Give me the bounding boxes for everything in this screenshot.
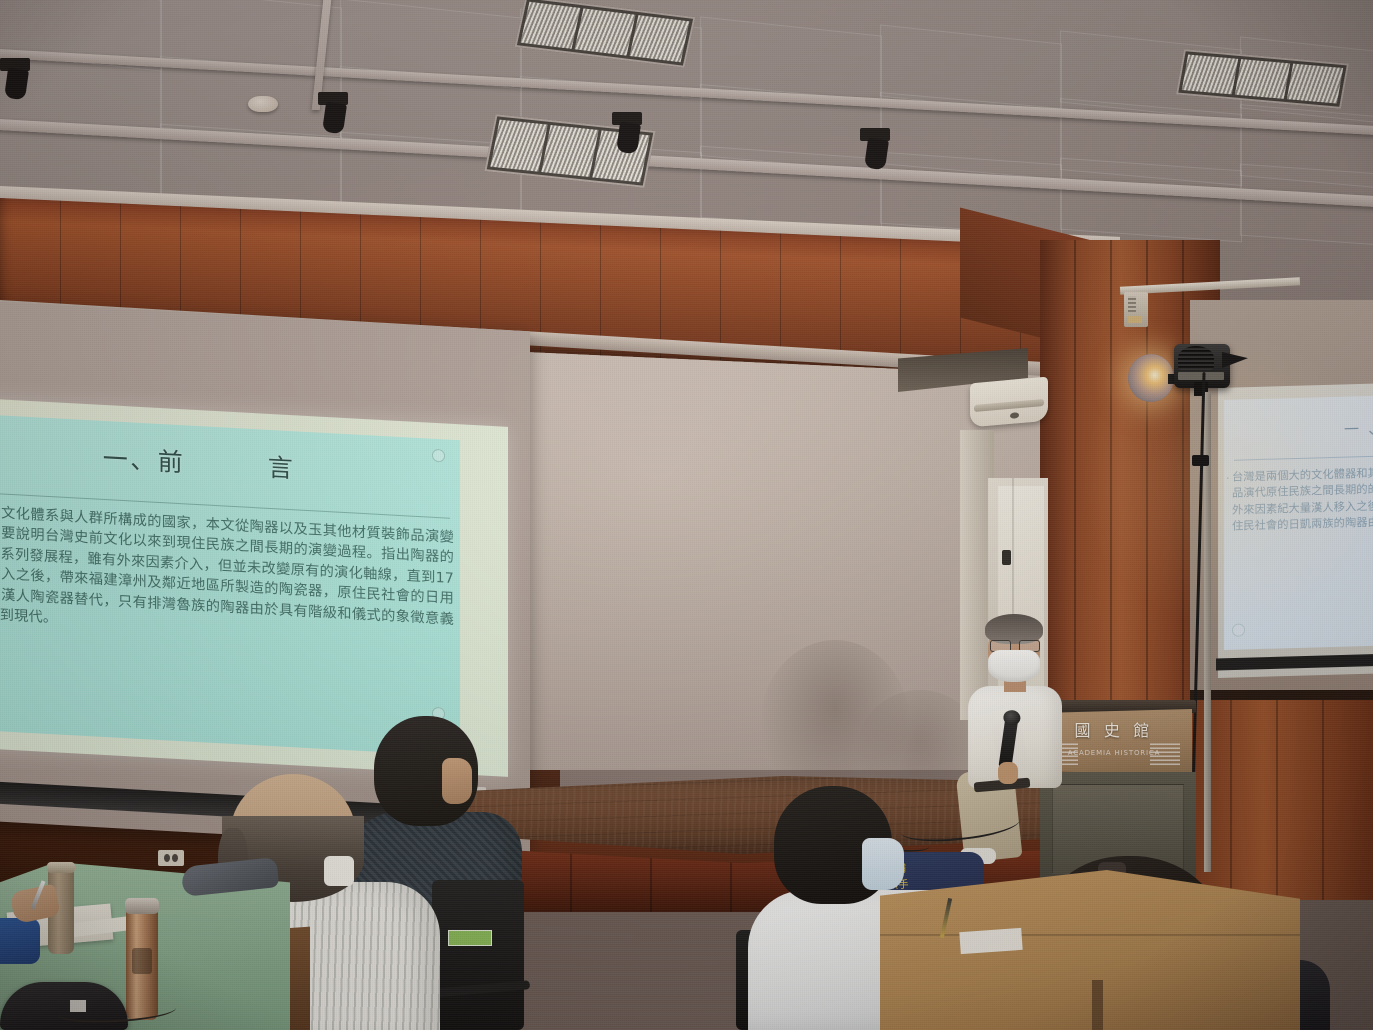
wall-control-box[interactable] <box>1124 292 1148 327</box>
note-paper <box>959 928 1022 954</box>
slide-body: 是兩個大的文化體系與人群所構成的國家，本文從陶器以及玉其他材質裝飾品演變的觀點，… <box>0 499 454 737</box>
power-outlet-icon[interactable] <box>158 850 184 866</box>
table-right <box>880 870 1300 1030</box>
air-conditioner <box>960 352 1060 432</box>
smoke-detector-icon <box>248 96 278 112</box>
blue-bag <box>0 918 40 964</box>
eyeglasses-icon <box>990 640 1040 650</box>
chair-asset-tag <box>448 930 492 946</box>
table-leg <box>1092 980 1103 1030</box>
slide-title: 一、前 言 <box>0 430 460 494</box>
face-mask-icon <box>988 650 1040 682</box>
lecture-hall-photo: 一、前 言 是兩個大的文化體系與人群所構成的國家，本文從陶器以及玉其他材質裝飾品… <box>0 0 1373 1030</box>
cable-clip <box>1192 455 1209 466</box>
door-handle-icon[interactable] <box>1002 550 1011 565</box>
projector-lamp-icon <box>1122 330 1252 420</box>
face-mask-icon <box>324 856 354 886</box>
air-conditioner-icon <box>970 377 1048 428</box>
podium-sublabel: ACADEMIA HISTORICA <box>1054 749 1174 757</box>
face-mask-icon <box>862 838 904 890</box>
